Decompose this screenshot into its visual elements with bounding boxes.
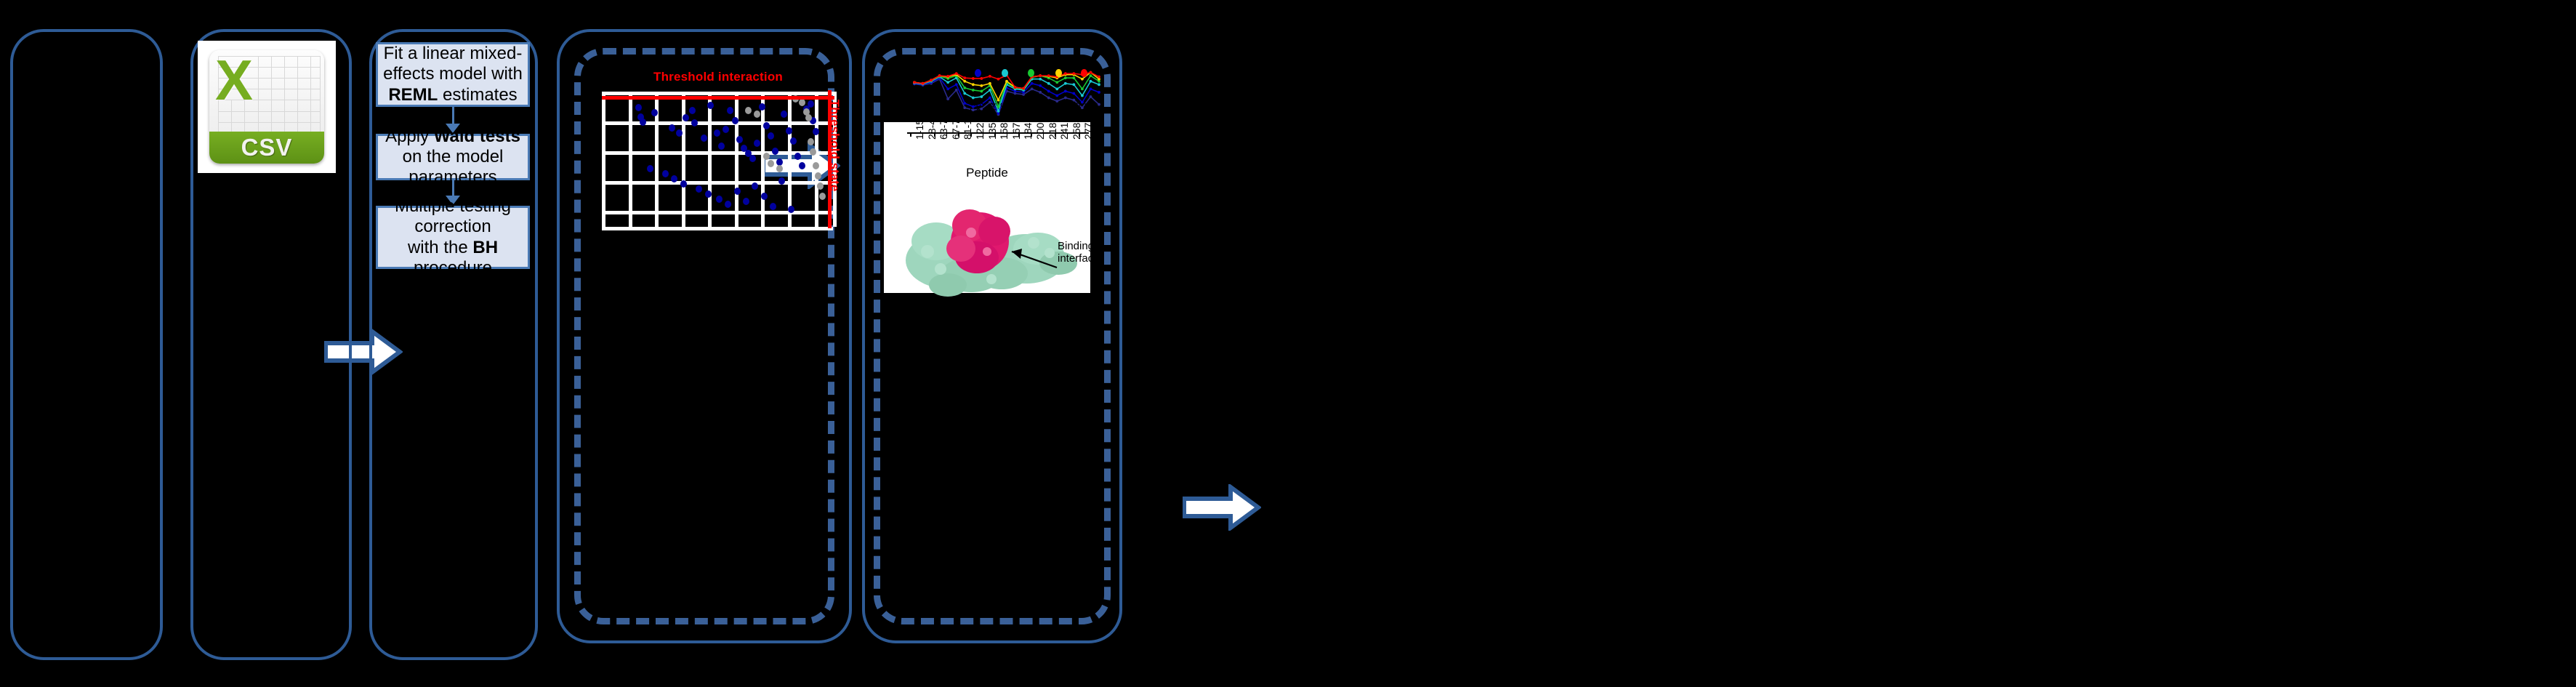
series-marker	[922, 82, 925, 85]
series-marker	[972, 77, 975, 80]
series-marker	[1014, 86, 1017, 89]
scatter-point	[759, 103, 765, 111]
process-box-fit-model[interactable]: Fit a linear mixed-effects model with RE…	[376, 42, 530, 107]
x-axis-tick-label: 81-101	[962, 108, 973, 140]
scatter-point	[761, 193, 768, 200]
scatter-point	[813, 162, 819, 169]
series-marker	[930, 79, 933, 81]
grid-line-horizontal	[602, 92, 833, 95]
x-axis-tick-label: 28-44	[926, 113, 938, 140]
workflow-diagram: X CSV Fit a linear mixed-effects model w…	[0, 0, 2576, 687]
series-marker	[1039, 84, 1042, 87]
excel-x-letter: X	[215, 52, 253, 108]
series-marker	[980, 77, 983, 80]
scatter-point	[763, 122, 770, 129]
scatter-point	[799, 162, 805, 169]
series-marker	[1064, 76, 1067, 79]
x-axis-tick-label: 167-180	[1010, 103, 1022, 140]
x-axis-tick-label: 135-144	[986, 103, 998, 140]
series-marker	[913, 81, 916, 84]
series-marker	[1098, 76, 1100, 79]
series-marker	[980, 95, 983, 98]
series-marker	[946, 75, 949, 78]
grid-line-horizontal	[602, 181, 833, 185]
x-axis-tick-label: 158-166	[998, 103, 1010, 140]
csv-icon-body: X CSV	[209, 50, 324, 164]
series-marker	[1098, 91, 1100, 94]
grid-line-horizontal	[602, 121, 833, 125]
series-marker	[1031, 88, 1034, 91]
scatter-point	[808, 138, 814, 145]
process-box-bh-correction[interactable]: Multiple testing correctionwith the BH p…	[376, 206, 530, 269]
series-marker	[1055, 88, 1058, 91]
process-box-text: Apply Wald tests on the model parameters	[381, 126, 525, 188]
x-axis-tick-label: 218-237	[1047, 103, 1058, 140]
series-marker	[1031, 82, 1034, 85]
grid-line-vertical	[735, 92, 738, 227]
series-marker	[1047, 97, 1050, 100]
series-marker	[1064, 90, 1067, 93]
grid-line-vertical	[815, 92, 818, 227]
series-marker	[1055, 81, 1058, 84]
scatter-point	[696, 185, 702, 193]
series-marker	[1064, 82, 1067, 85]
series-marker	[963, 87, 966, 89]
scatter-point	[647, 165, 653, 172]
scatter-point	[813, 128, 819, 135]
series-marker	[963, 92, 966, 95]
series-marker	[1039, 74, 1042, 77]
scatter-point	[749, 155, 756, 162]
series-marker	[1022, 87, 1025, 90]
scatter-point	[794, 153, 801, 160]
legend-dot	[1081, 69, 1087, 77]
series-marker	[1081, 88, 1084, 91]
scatter-point	[754, 140, 760, 147]
scatter-point	[770, 203, 776, 210]
scatter-point	[732, 117, 738, 124]
x-axis-tick-label: 258-266	[1071, 103, 1082, 140]
scatter-point	[691, 119, 698, 126]
scatter-point	[776, 165, 783, 172]
grid-line-vertical	[682, 92, 685, 227]
series-marker	[1005, 80, 1008, 83]
scatter-point	[768, 160, 774, 167]
series-marker	[963, 80, 966, 83]
series-marker	[955, 89, 958, 92]
x-axis-tick	[910, 132, 911, 137]
series-marker	[1072, 76, 1075, 79]
x-axis-tick-label: 277-284	[1082, 103, 1094, 140]
threshold-interaction-line	[602, 96, 834, 100]
series-marker	[946, 97, 949, 100]
series-marker	[1090, 95, 1092, 98]
series-marker	[972, 89, 975, 92]
volcano-scatter-plot	[602, 92, 833, 227]
process-box-wald-tests[interactable]: Apply Wald tests on the model parameters	[376, 134, 530, 180]
scatter-point	[683, 114, 689, 121]
process-box-text: Multiple testing correctionwith the BH p…	[381, 196, 525, 278]
connector-wald-to-bh	[452, 180, 454, 197]
scatter-point	[727, 107, 733, 114]
scatter-point	[768, 132, 774, 140]
scatter-point	[680, 180, 687, 188]
series-marker	[1047, 82, 1050, 85]
grid-line-vertical	[708, 92, 712, 227]
series-marker	[989, 75, 991, 78]
grid-line-horizontal	[602, 211, 833, 214]
scatter-point	[662, 170, 669, 177]
series-marker	[1090, 80, 1092, 83]
scatter-point	[772, 148, 778, 155]
series-marker	[1064, 72, 1067, 75]
scatter-point	[817, 182, 824, 190]
series-marker	[997, 99, 1000, 102]
csv-label-band: CSV	[209, 132, 324, 164]
binding-label-line1: Binding	[1058, 240, 1100, 252]
scatter-point	[701, 134, 707, 142]
legend-dot	[975, 69, 981, 77]
series-marker	[1039, 91, 1042, 94]
series-marker	[1081, 95, 1084, 97]
series-marker	[972, 83, 975, 86]
scatter-point	[734, 188, 741, 195]
scatter-point	[788, 206, 794, 213]
series-marker	[989, 97, 991, 100]
scatter-point	[669, 124, 675, 132]
series-marker	[955, 72, 958, 75]
scatter-point	[790, 137, 797, 145]
x-axis-tick-label: 184-199	[1022, 103, 1034, 140]
series-marker	[1055, 95, 1058, 97]
scatter-point	[743, 198, 749, 205]
scatter-point	[754, 111, 760, 118]
scatter-point	[716, 196, 723, 203]
x-axis-tick-label: 241-257	[1058, 103, 1070, 140]
csv-label-text: CSV	[241, 134, 293, 161]
series-marker	[963, 76, 966, 79]
x-axis-tick-label: 1-15	[914, 119, 925, 140]
series-marker	[946, 88, 949, 91]
series-marker	[1090, 74, 1092, 77]
binding-label-line2: interface	[1058, 252, 1100, 265]
scatter-point	[786, 127, 792, 134]
series-marker	[1081, 78, 1084, 81]
x-axis-tick-label: 200-214	[1034, 103, 1046, 140]
series-marker	[963, 102, 966, 105]
scatter-point	[781, 111, 787, 118]
scatter-point	[635, 104, 642, 111]
scatter-point	[689, 107, 696, 114]
connector-fit-to-wald	[452, 107, 454, 125]
peptide-axis-title: Peptide	[884, 166, 1090, 180]
binding-interface-annotation: Binding interface	[1058, 240, 1100, 265]
scatter-point	[723, 126, 729, 133]
scatter-point	[736, 136, 743, 143]
volcano-title: Threshold interaction	[602, 70, 834, 84]
legend-dot	[1055, 69, 1062, 77]
series-marker	[1072, 92, 1075, 95]
scatter-point	[752, 182, 758, 190]
scatter-point	[725, 201, 731, 208]
scatter-point	[718, 142, 725, 150]
series-marker	[1047, 90, 1050, 93]
x-axis-tick-label: 122-129	[974, 103, 986, 140]
series-marker	[989, 82, 991, 85]
csv-file-icon[interactable]: X CSV	[198, 41, 336, 173]
scatter-point	[676, 129, 683, 137]
scatter-point	[819, 193, 826, 200]
threshold-state-label: Threshold state	[827, 95, 842, 196]
scatter-point	[714, 129, 720, 137]
grid-line-vertical	[629, 92, 632, 227]
x-axis-tick-label: 63-73	[938, 113, 949, 140]
grid-line-vertical	[602, 92, 605, 227]
series-marker	[1098, 103, 1100, 106]
series-marker	[955, 83, 958, 86]
series-marker	[972, 97, 975, 100]
grid-line-horizontal	[602, 227, 833, 230]
scatter-point	[815, 172, 821, 180]
series-marker	[1090, 88, 1092, 91]
x-axis-tick-label: 67-75	[950, 113, 962, 140]
series-marker	[946, 81, 949, 84]
series-marker	[1047, 74, 1050, 77]
series-marker	[1072, 72, 1075, 75]
series-marker	[1064, 97, 1067, 100]
arrow-stats-to-volcano	[1183, 484, 1261, 531]
series-marker	[980, 90, 983, 93]
series-marker	[1072, 99, 1075, 102]
series-marker	[1039, 78, 1042, 81]
scatter-point	[640, 118, 646, 126]
raw-data-panel	[10, 29, 163, 660]
process-box-text: Fit a linear mixed-effects model with RE…	[381, 44, 525, 105]
scatter-point	[745, 107, 752, 114]
series-marker	[1098, 83, 1100, 86]
series-marker	[938, 74, 941, 77]
series-marker	[997, 78, 1000, 81]
series-marker	[1072, 83, 1075, 86]
series-marker	[1090, 71, 1092, 74]
scatter-point	[707, 102, 714, 109]
scatter-point	[763, 153, 770, 160]
series-marker	[980, 84, 983, 87]
scatter-point	[705, 190, 712, 198]
scatter-point	[808, 100, 814, 108]
legend-dot	[1028, 69, 1034, 77]
legend-dot	[1002, 69, 1008, 77]
